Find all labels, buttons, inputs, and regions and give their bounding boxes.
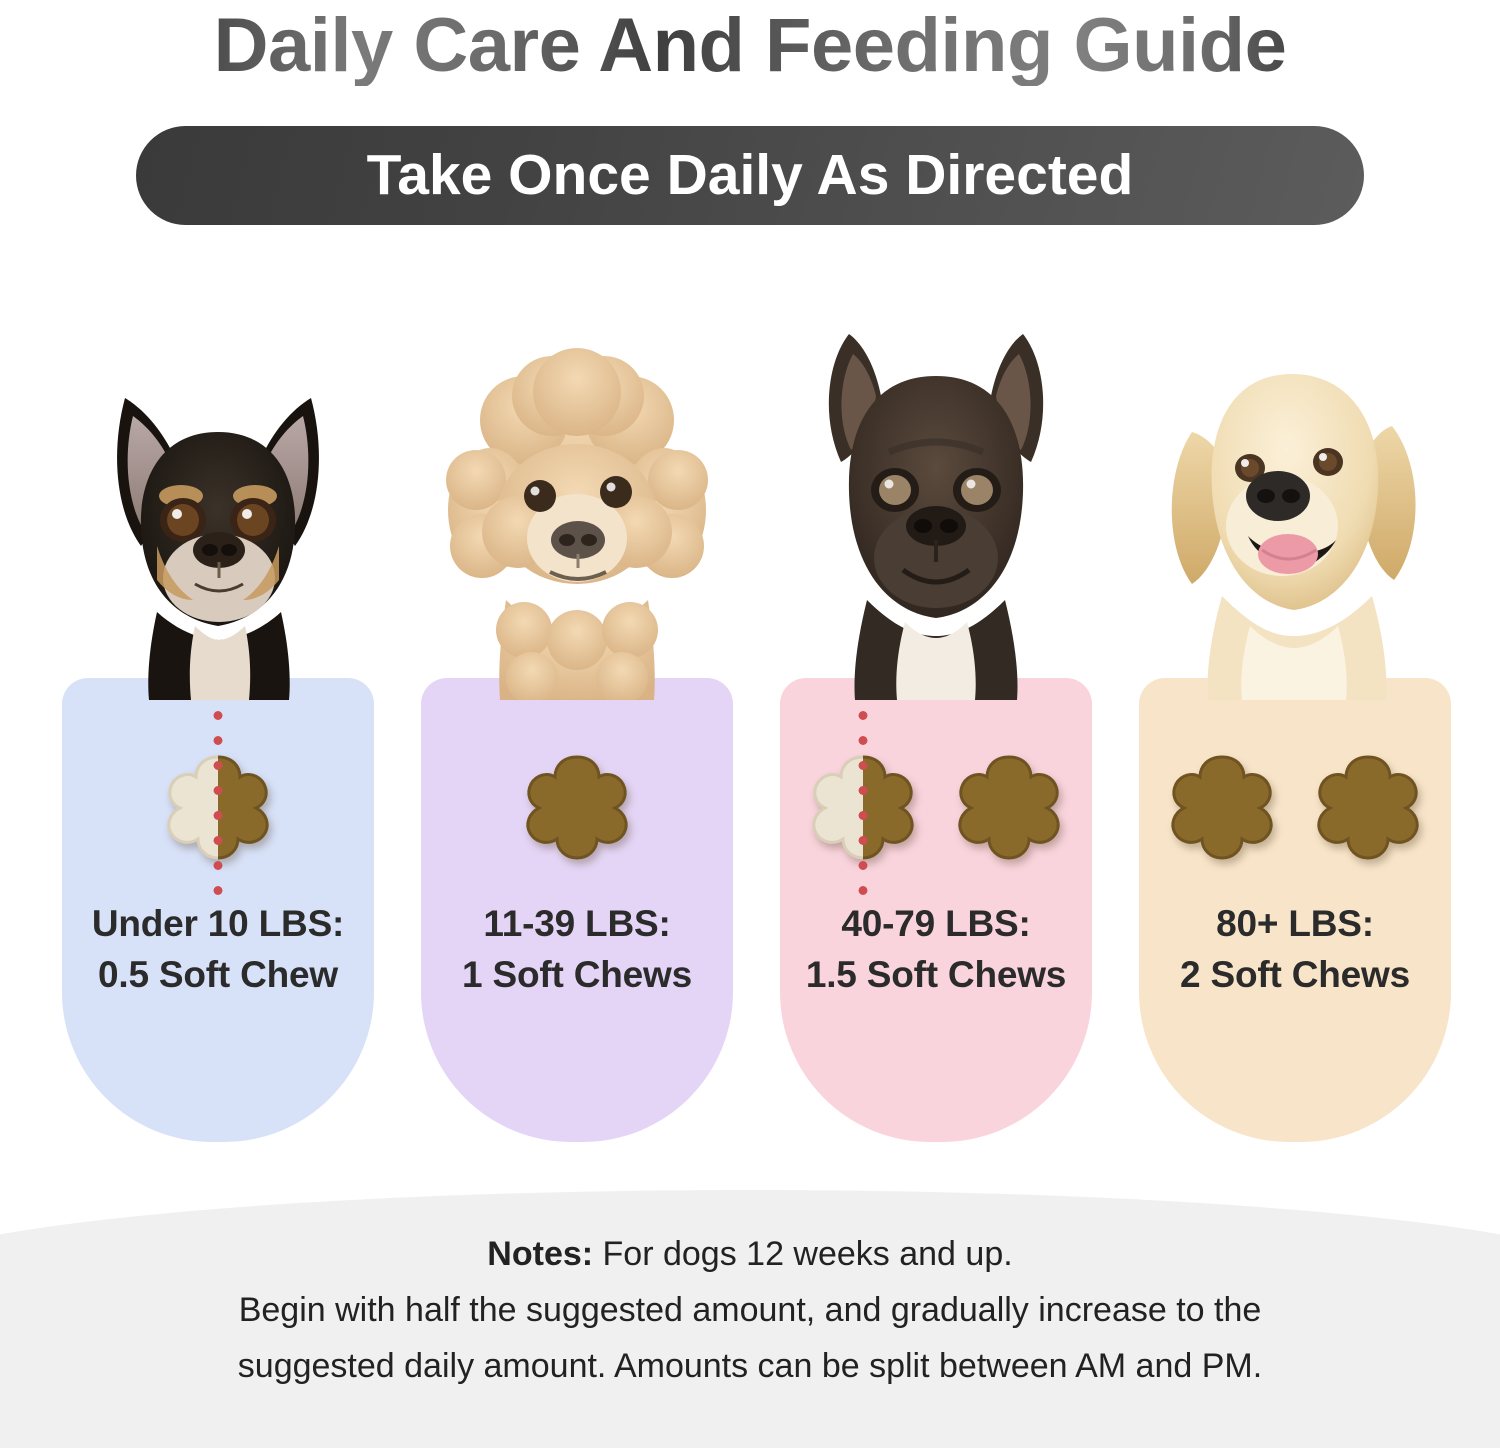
weight-label: 11-39 LBS: — [417, 898, 737, 949]
dosage-labels-1: 11-39 LBS: 1 Soft Chews — [417, 898, 737, 1000]
dosage-card-french-bulldog: 40-79 LBS: 1.5 Soft Chews — [771, 300, 1101, 1160]
dose-label: 1.5 Soft Chews — [776, 949, 1096, 1000]
weight-label: Under 10 LBS: — [58, 898, 378, 949]
chew-group-1 — [421, 720, 733, 890]
dose-label: 2 Soft Chews — [1135, 949, 1455, 1000]
dosage-labels-3: 80+ LBS: 2 Soft Chews — [1135, 898, 1455, 1000]
dosage-cards-row: Under 10 LBS: 0.5 Soft Chew — [0, 300, 1500, 1160]
chew-group-2 — [780, 720, 1092, 890]
dosage-labels-2: 40-79 LBS: 1.5 Soft Chews — [776, 898, 1096, 1000]
chew-half-2 — [803, 745, 923, 865]
notes-section: Notes: For dogs 12 weeks and up. Begin w… — [0, 1174, 1500, 1448]
dose-label: 0.5 Soft Chew — [58, 949, 378, 1000]
notes-text: Notes: For dogs 12 weeks and up. Begin w… — [0, 1226, 1500, 1394]
directions-banner: Take Once Daily As Directed — [136, 126, 1364, 225]
notes-label: Notes: — [487, 1235, 593, 1273]
chew-full-2 — [949, 745, 1069, 865]
directions-banner-text: Take Once Daily As Directed — [367, 147, 1134, 204]
weight-label: 80+ LBS: — [1135, 898, 1455, 949]
half-dose-divider — [859, 703, 868, 907]
dog-photo-chihuahua — [53, 300, 383, 700]
feeding-guide-page: Daily Care And Feeding Guide Take Once D… — [0, 0, 1500, 1448]
notes-line-3: suggested daily amount. Amounts can be s… — [60, 1338, 1440, 1394]
dog-photo-golden-retriever — [1130, 300, 1460, 700]
chew-full-1 — [517, 745, 637, 865]
weight-label: 40-79 LBS: — [776, 898, 1096, 949]
paw-chew-icon — [1308, 745, 1428, 865]
paw-chew-icon — [949, 745, 1069, 865]
half-dose-divider — [214, 703, 223, 907]
chew-full-3a — [1162, 745, 1282, 865]
notes-line-2: Begin with half the suggested amount, an… — [60, 1282, 1440, 1338]
dose-label: 1 Soft Chews — [417, 949, 737, 1000]
dosage-labels-0: Under 10 LBS: 0.5 Soft Chew — [58, 898, 378, 1000]
dog-photo-poodle — [412, 300, 742, 700]
dog-photo-french-bulldog — [771, 300, 1101, 700]
paw-chew-icon — [517, 745, 637, 865]
dosage-card-chihuahua: Under 10 LBS: 0.5 Soft Chew — [53, 300, 383, 1160]
page-title: Daily Care And Feeding Guide — [0, 6, 1500, 86]
dosage-card-poodle: 11-39 LBS: 1 Soft Chews — [412, 300, 742, 1160]
paw-chew-icon — [1162, 745, 1282, 865]
notes-line-1: Notes: For dogs 12 weeks and up. — [60, 1226, 1440, 1282]
notes-line-1-rest: For dogs 12 weeks and up. — [593, 1235, 1013, 1273]
dosage-card-golden-retriever: 80+ LBS: 2 Soft Chews — [1130, 300, 1460, 1160]
chew-group-3 — [1139, 720, 1451, 890]
chew-full-3b — [1308, 745, 1428, 865]
chew-half-0 — [158, 745, 278, 865]
chew-group-0 — [62, 720, 374, 890]
